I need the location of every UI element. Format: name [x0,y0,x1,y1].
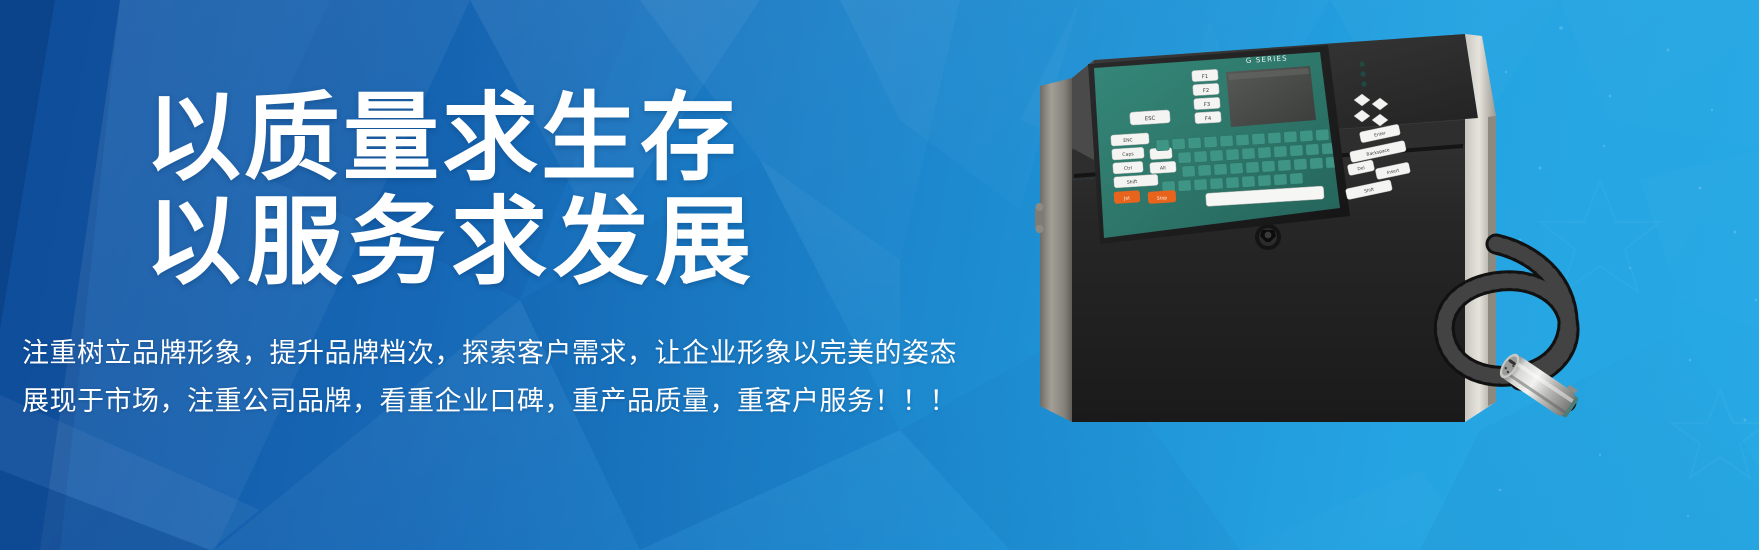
subtitle-line-2: 展现于市场，注重公司品牌，看重企业口碑，重产品质量，重客户服务！！！ [22,378,957,426]
svg-text:F4: F4 [1205,116,1212,122]
svg-text:Caps: Caps [1122,151,1134,158]
cabinet-left-post [1040,78,1072,422]
svg-text:ENC: ENC [1123,137,1133,144]
cabinet-door-latch [1255,224,1281,250]
subtitle-line-1: 注重树立品牌形象，提升品牌档次，探索客户需求，让企业形象以完美的姿态 [22,330,957,378]
svg-text:Stop: Stop [1157,195,1168,202]
headline-line-1: 以质量求生存 [145,86,757,190]
svg-text:Ctrl: Ctrl [1124,165,1133,172]
svg-text:Shift: Shift [1127,179,1138,186]
svg-text:F3: F3 [1204,102,1211,108]
banner-subtitle: 注重树立品牌形象，提升品牌档次，探索客户需求，让企业形象以完美的姿态 展现于市场… [22,330,957,426]
headline-line-2: 以服务求发展 [145,190,757,294]
promo-banner: G SERIES F1 F2 F3 [0,0,1759,550]
banner-copy: 以质量求生存 以服务求发展 注重树立品牌形象，提升品牌档次，探索客户需求，让企业… [0,0,1000,550]
svg-text:F1: F1 [1202,74,1209,80]
svg-text:Jet: Jet [1123,195,1131,201]
banner-headline: 以质量求生存 以服务求发展 [145,86,757,294]
product-photo-inkjet-printer: G SERIES F1 F2 F3 [1010,30,1630,500]
jet-key: Jet [1114,190,1141,204]
escape-key: ESC [1130,110,1171,125]
stop-key: Stop [1148,190,1177,204]
svg-text:ESC: ESC [1145,116,1156,123]
svg-text:Alt: Alt [1160,165,1167,171]
svg-text:F2: F2 [1203,88,1210,94]
